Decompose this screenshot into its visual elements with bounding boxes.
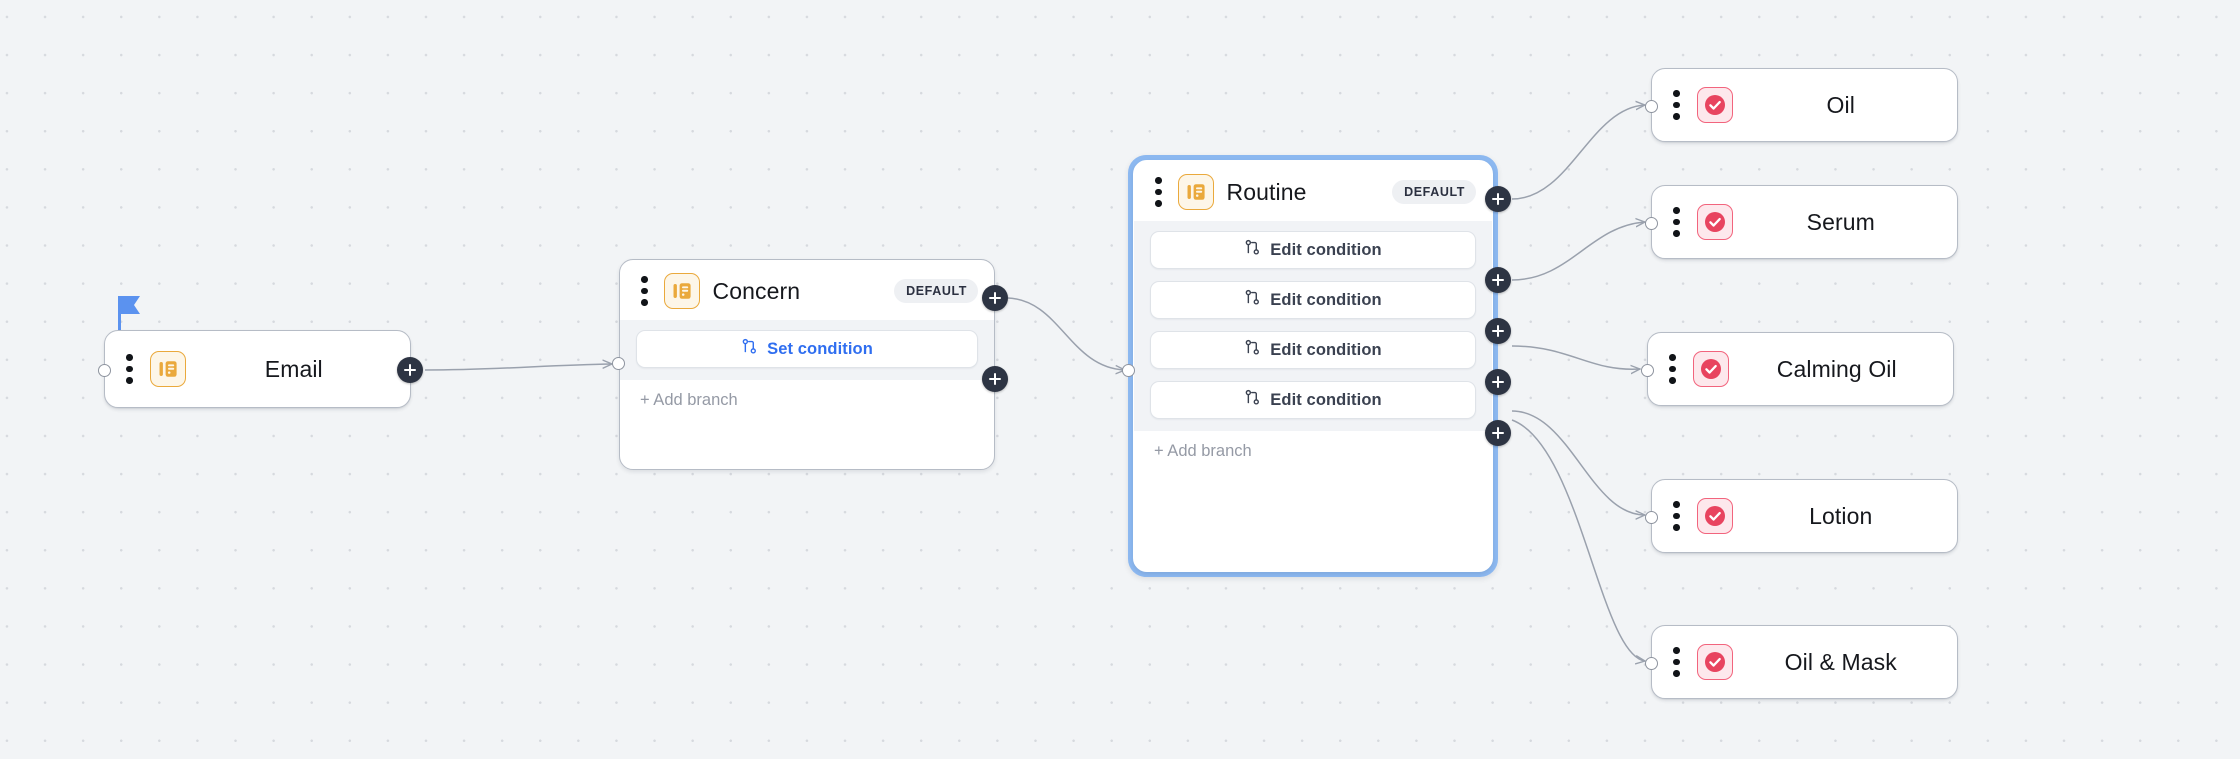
routine-branch-2-add-button[interactable] xyxy=(1485,318,1511,344)
node-lotion[interactable]: Lotion xyxy=(1651,479,1958,553)
routine-branch-3-add-button[interactable] xyxy=(1485,369,1511,395)
routine-edit-condition-label-4: Edit condition xyxy=(1270,391,1381,410)
oil-and-mask-title: Oil & Mask xyxy=(1785,649,1897,676)
email-input-port[interactable] xyxy=(98,364,111,377)
email-add-next-button[interactable] xyxy=(397,357,423,383)
node-calming-oil[interactable]: Calming Oil xyxy=(1647,332,1954,406)
concern-add-next-button[interactable] xyxy=(982,285,1008,311)
concern-set-condition-label: Set condition xyxy=(767,340,873,359)
routine-branch-1-add-button[interactable] xyxy=(1485,267,1511,293)
edge-routine-calming-oil xyxy=(1512,346,1640,369)
git-branch-icon xyxy=(1244,389,1261,411)
git-branch-icon xyxy=(1244,239,1261,261)
routine-edit-condition-label-3: Edit condition xyxy=(1270,341,1381,360)
node-oil-and-mask[interactable]: Oil & Mask xyxy=(1651,625,1958,699)
edge-routine-lotion xyxy=(1512,411,1645,515)
node-routine[interactable]: Routine DEFAULT Edit condition xyxy=(1128,155,1498,577)
routine-add-branch-button[interactable]: + Add branch xyxy=(1134,431,1492,474)
edge-routine-oil-mask xyxy=(1512,420,1645,661)
check-circle-icon xyxy=(1693,351,1729,387)
lotion-input-port[interactable] xyxy=(1645,511,1658,524)
calming-oil-kebab-menu[interactable] xyxy=(1666,352,1679,386)
edge-routine-serum xyxy=(1512,222,1645,280)
check-circle-icon xyxy=(1697,644,1733,680)
edge-concern-routine xyxy=(1008,298,1125,370)
git-branch-icon xyxy=(1244,289,1261,311)
message-template-icon xyxy=(664,273,700,309)
serum-kebab-menu[interactable] xyxy=(1670,205,1683,239)
node-oil[interactable]: Oil xyxy=(1651,68,1958,142)
concern-kebab-menu[interactable] xyxy=(638,274,651,308)
routine-default-badge: DEFAULT xyxy=(1392,180,1476,204)
routine-edit-condition-button-2[interactable]: Edit condition xyxy=(1150,281,1476,319)
concern-input-port[interactable] xyxy=(612,357,625,370)
routine-title: Routine xyxy=(1227,179,1307,206)
routine-add-next-button[interactable] xyxy=(1485,186,1511,212)
message-template-icon xyxy=(1178,174,1214,210)
oil-input-port[interactable] xyxy=(1645,100,1658,113)
git-branch-icon xyxy=(1244,339,1261,361)
calming-oil-title: Calming Oil xyxy=(1777,356,1897,383)
check-circle-icon xyxy=(1697,498,1733,534)
concern-branch-1-add-button[interactable] xyxy=(982,366,1008,392)
concern-default-badge: DEFAULT xyxy=(894,279,978,303)
routine-edit-condition-button-1[interactable]: Edit condition xyxy=(1150,231,1476,269)
routine-edit-condition-label-1: Edit condition xyxy=(1270,241,1381,260)
routine-edit-condition-label-2: Edit condition xyxy=(1270,291,1381,310)
oil-and-mask-kebab-menu[interactable] xyxy=(1670,645,1683,679)
message-template-icon xyxy=(150,351,186,387)
email-title: Email xyxy=(265,356,323,383)
calming-oil-input-port[interactable] xyxy=(1641,364,1654,377)
concern-set-condition-button[interactable]: Set condition xyxy=(636,330,978,368)
check-circle-icon xyxy=(1697,204,1733,240)
concern-title: Concern xyxy=(713,278,801,305)
serum-title: Serum xyxy=(1807,209,1875,236)
check-circle-icon xyxy=(1697,87,1733,123)
routine-conditions-list: Edit condition Edit condition xyxy=(1134,221,1492,431)
oil-and-mask-input-port[interactable] xyxy=(1645,657,1658,670)
routine-input-port[interactable] xyxy=(1122,364,1135,377)
routine-edit-condition-button-3[interactable]: Edit condition xyxy=(1150,331,1476,369)
concern-add-branch-button[interactable]: + Add branch xyxy=(620,380,994,423)
node-concern[interactable]: Concern DEFAULT Set condition xyxy=(619,259,995,470)
node-email[interactable]: Email xyxy=(104,330,411,408)
git-branch-icon xyxy=(741,338,758,360)
email-kebab-menu[interactable] xyxy=(123,352,136,386)
edge-email-concern xyxy=(425,364,612,370)
oil-kebab-menu[interactable] xyxy=(1670,88,1683,122)
oil-title: Oil xyxy=(1827,92,1855,119)
routine-kebab-menu[interactable] xyxy=(1152,175,1165,209)
node-serum[interactable]: Serum xyxy=(1651,185,1958,259)
flow-canvas[interactable]: Email Concern DEF xyxy=(0,0,2240,759)
routine-branch-4-add-button[interactable] xyxy=(1485,420,1511,446)
serum-input-port[interactable] xyxy=(1645,217,1658,230)
concern-conditions-list: Set condition xyxy=(620,320,994,380)
lotion-kebab-menu[interactable] xyxy=(1670,499,1683,533)
routine-edit-condition-button-4[interactable]: Edit condition xyxy=(1150,381,1476,419)
lotion-title: Lotion xyxy=(1809,503,1872,530)
edge-routine-oil xyxy=(1512,105,1645,199)
